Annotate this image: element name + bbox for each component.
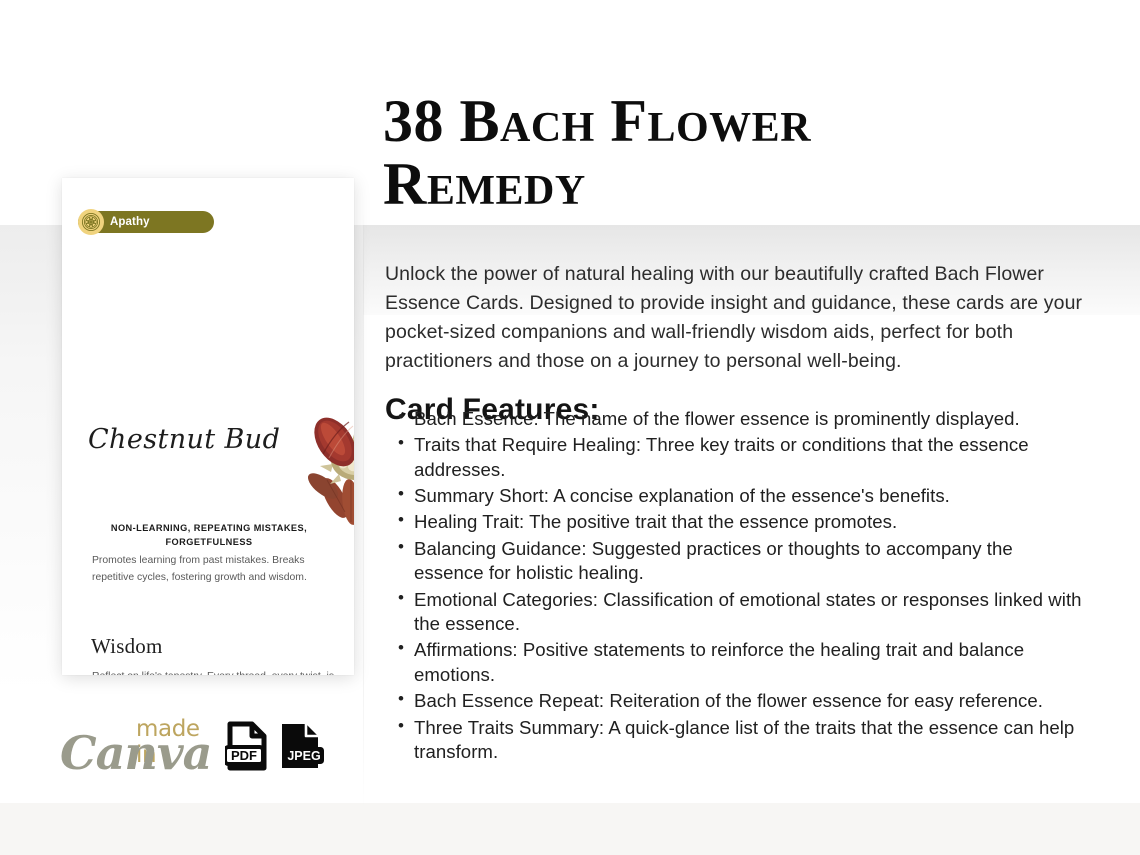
list-item: Bach Essence Repeat: Reiteration of the …: [397, 689, 1087, 714]
page-title-line-1: 38 Bach Flower: [383, 88, 811, 154]
essence-name: Chestnut Bud: [88, 424, 280, 455]
card-features-list: Bach Essence: The name of the flower ess…: [397, 407, 1087, 767]
list-item: Healing Trait: The positive trait that t…: [397, 510, 1087, 535]
pdf-file-icon: PDF: [225, 721, 269, 776]
summary-short: Promotes learning from past mistakes. Br…: [92, 553, 337, 587]
traits-requiring-healing: NON-LEARNING, REPEATING MISTAKES, FORGET…: [84, 521, 334, 550]
list-item: Emotional Categories: Classification of …: [397, 588, 1087, 637]
essence-card: Apathy: [62, 178, 354, 675]
list-item: Balancing Guidance: Suggested practices …: [397, 537, 1087, 586]
list-item: Bach Essence: The name of the flower ess…: [397, 407, 1087, 432]
chestnut-bud-flower-illustration: [293, 410, 354, 525]
page-title: 38 Bach Flower Remedy: [383, 90, 1083, 216]
vertical-divider: [363, 212, 364, 812]
list-item: Summary Short: A concise explanation of …: [397, 484, 1087, 509]
made-in-canva-branding: made in Canva PDF JPEG: [58, 714, 325, 776]
mandala-icon: [78, 209, 104, 235]
emotion-badge-label: Apathy: [110, 216, 150, 228]
background-band-bottom: [0, 803, 1140, 855]
canva-logo: made in Canva: [58, 714, 213, 776]
list-item: Affirmations: Positive statements to rei…: [397, 638, 1087, 687]
page-title-line-2: Remedy: [383, 151, 586, 217]
balancing-guidance-text: Reflect on life's tapestry. Every thread…: [92, 669, 337, 675]
wisdom-heading: Wisdom: [91, 634, 163, 659]
svg-text:PDF: PDF: [231, 748, 257, 763]
list-item: Traits that Require Healing: Three key t…: [397, 433, 1087, 482]
list-item: Three Traits Summary: A quick-glance lis…: [397, 716, 1087, 765]
canva-wordmark: Canva: [60, 726, 211, 780]
svg-text:JPEG: JPEG: [287, 749, 320, 763]
intro-paragraph: Unlock the power of natural healing with…: [385, 260, 1085, 377]
jpeg-file-icon: JPEG: [277, 721, 325, 776]
file-format-icons: PDF JPEG: [225, 721, 325, 776]
emotion-badge: Apathy: [78, 211, 214, 233]
